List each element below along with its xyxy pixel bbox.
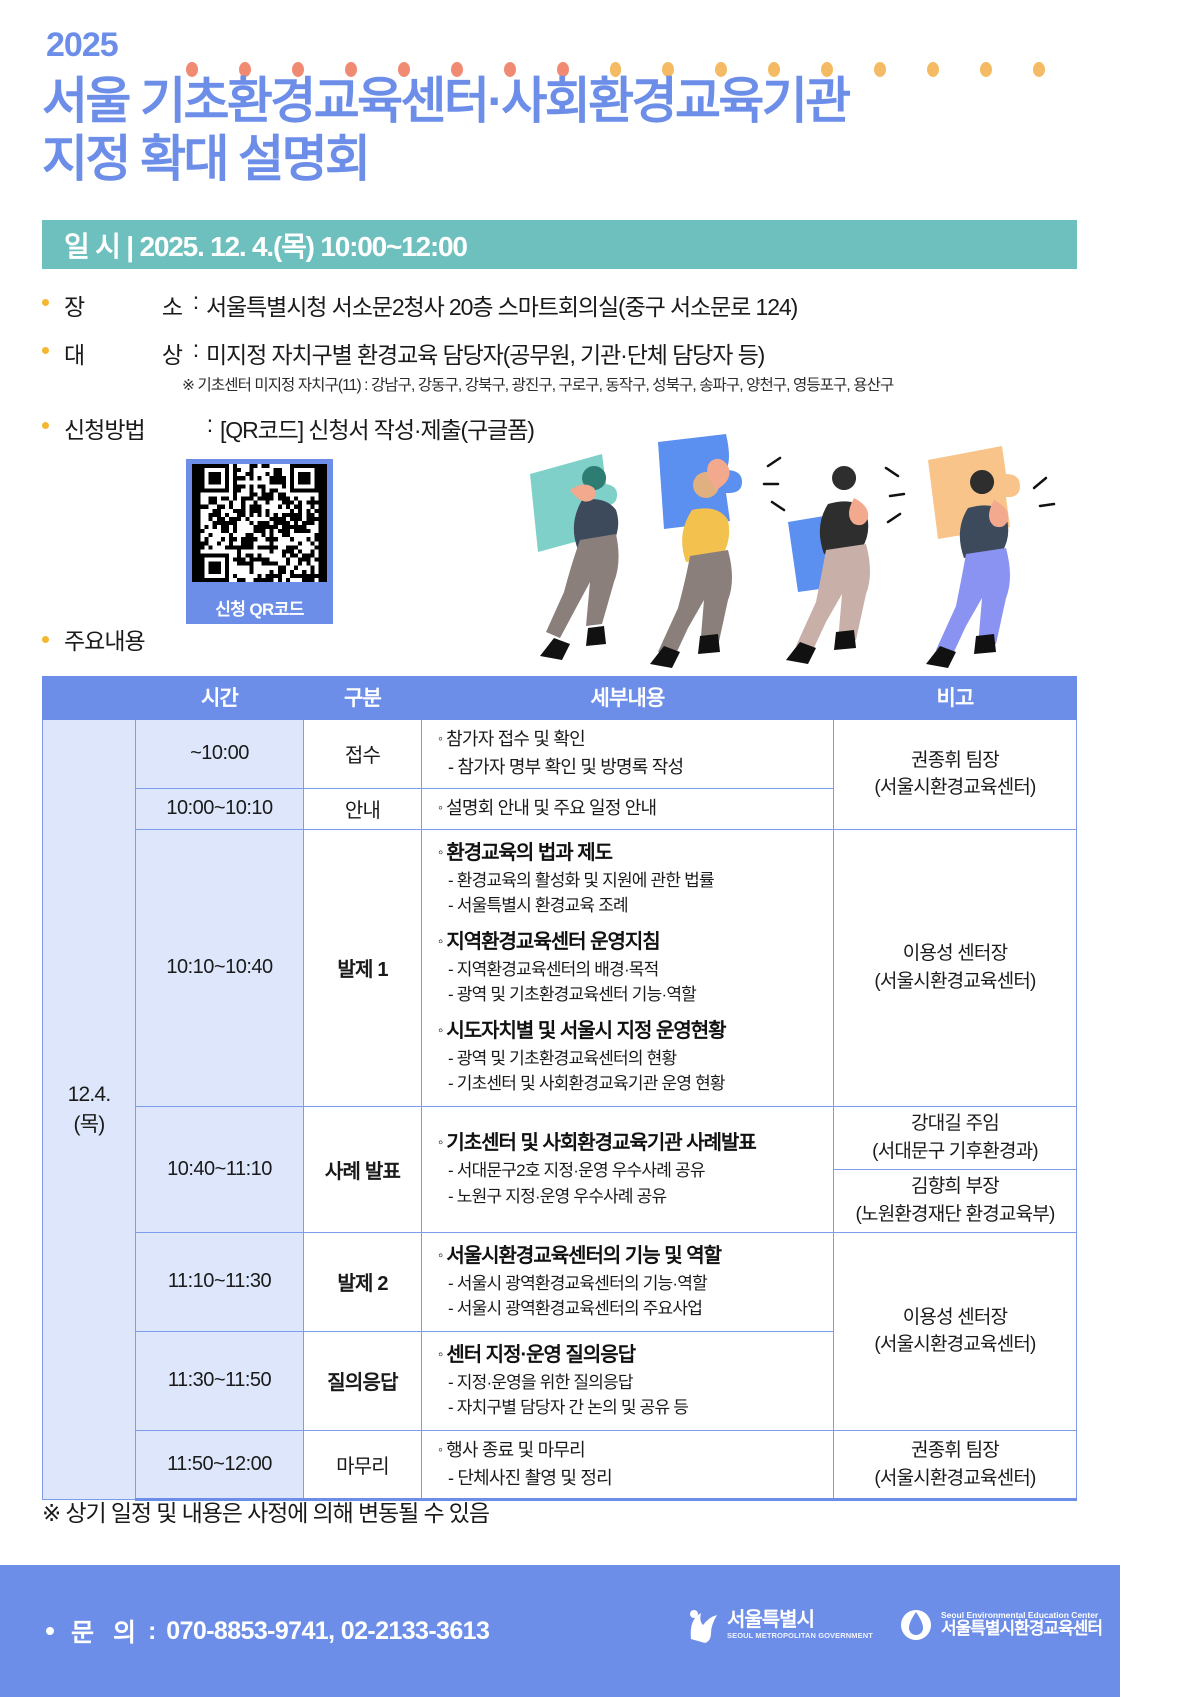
cell-kind: 질의응답: [304, 1331, 422, 1430]
target-value: 미지정 자치구별 환경교육 담당자(공무원, 기관·단체 담당자 등): [206, 336, 764, 370]
table-row: 11:10~11:30 발제 2 ◦서울시환경교육센터의 기능 및 역할 - 서…: [43, 1232, 1077, 1331]
detail-group: ◦시도자치별 및 서울시 지정 운영현황 - 광역 및 기초환경교육센터의 현황…: [438, 1017, 833, 1097]
note-line-1: 이용성 센터장: [835, 940, 1075, 968]
cell-note: 이용성 센터장 (서울시환경교육센터): [834, 829, 1077, 1106]
note-line-2: (서울시환경교육센터): [835, 968, 1075, 996]
info-row-target: 대 상 : 미지정 자치구별 환경교육 담당자(공무원, 기관·단체 담당자 등…: [42, 336, 1112, 370]
seoul-city-logo: 서울특별시 SEOUL METROPOLITAN GOVERNMENT: [685, 1605, 873, 1645]
poster-header: 2025 서울 기초환경교육센터·사회환경교육기관 지정 확대 설명회: [0, 0, 1120, 215]
cell-detail: ◦참가자 접수 및 확인 - 참가자 명부 확인 및 방명록 작성: [422, 719, 834, 789]
place-value: 서울특별시청 서소문2청사 20층 스마트회의실(중구 서소문로 124): [206, 288, 797, 322]
cell-time: 10:10~10:40: [136, 829, 304, 1106]
person-4: [926, 446, 1020, 668]
date-bar: 일 시 | 2025. 12. 4.(목) 10:00~12:00: [42, 220, 1077, 269]
cell-detail: ◦행사 종료 및 마무리 - 단체사진 촬영 및 정리: [422, 1430, 834, 1500]
contact-numbers: 070-8853-9741, 02-2133-3613: [166, 1617, 489, 1646]
footer-contact: 문 의 : 070-8853-9741, 02-2133-3613: [46, 1613, 489, 1649]
date-bar-text: 일 시 | 2025. 12. 4.(목) 10:00~12:00: [42, 225, 467, 265]
note-line-2: (노원환경재단 환경교육부): [835, 1201, 1075, 1229]
detail-group-head: ◦기초센터 및 사회환경교육기관 사례발표: [438, 1129, 833, 1158]
detail-sub: - 서울시 광역환경교육센터의 기능·역할: [438, 1271, 833, 1297]
table-row: 11:50~12:00 마무리 ◦행사 종료 및 마무리 - 단체사진 촬영 및…: [43, 1430, 1077, 1500]
qr-code-image[interactable]: [186, 459, 333, 595]
note-line-1: 이용성 센터장: [835, 1304, 1075, 1332]
cell-kind: 마무리: [304, 1430, 422, 1500]
detail-sub: - 환경교육의 활성화 및 지원에 관한 법률: [438, 868, 833, 894]
detail-group-head: ◦서울시환경교육센터의 기능 및 역할: [438, 1242, 833, 1271]
illustration-svg: [510, 432, 1110, 672]
info-row-target-wrap: 대 상 : 미지정 자치구별 환경교육 담당자(공무원, 기관·단체 담당자 등…: [42, 336, 1112, 395]
detail-sub: - 자치구별 담당자 간 논의 및 공유 등: [438, 1395, 833, 1421]
th-blank: [43, 677, 136, 719]
circle-bullet-icon: ◦: [438, 1346, 442, 1363]
apply-label: 신청방법: [64, 411, 200, 445]
detail-group-head: ◦환경교육의 법과 제도: [438, 839, 833, 868]
footer-logos: 서울특별시 SEOUL METROPOLITAN GOVERNMENT Seou…: [685, 1605, 1102, 1645]
table-row: 12.4. (목) ~10:00 접수 ◦참가자 접수 및 확인 - 참가자 명…: [43, 719, 1077, 789]
apply-colon: :: [200, 411, 220, 438]
detail-group: ◦센터 지정·운영 질의응답 - 지정·운영을 위한 질의응답 - 자치구별 담…: [438, 1341, 833, 1421]
footnote-text: ※ 상기 일정 및 내용은 사정에 의해 변동될 수 있음: [42, 1494, 489, 1528]
place-colon: :: [186, 288, 206, 315]
person-3: [786, 466, 870, 664]
table-header-row: 시간 구분 세부내용 비고: [43, 677, 1077, 719]
cell-time: 11:50~12:00: [136, 1430, 304, 1500]
qr-caption: 신청 QR코드: [186, 595, 333, 624]
cell-time: ~10:00: [136, 719, 304, 789]
date-cell-line2: (목): [44, 1110, 134, 1139]
cell-note: 김향희 부장 (노원환경재단 환경교육부): [834, 1169, 1077, 1232]
target-label: 대 상: [64, 336, 186, 370]
cell-note: 권종휘 팀장 (서울시환경교육센터): [834, 1430, 1077, 1500]
cell-detail: ◦센터 지정·운영 질의응답 - 지정·운영을 위한 질의응답 - 자치구별 담…: [422, 1331, 834, 1430]
seoul-city-text: 서울특별시 SEOUL METROPOLITAN GOVERNMENT: [727, 1610, 873, 1640]
person-1: [530, 454, 619, 660]
note-line-2: (서울시환경교육센터): [835, 1465, 1075, 1493]
seoul-mark-icon: [685, 1605, 719, 1645]
cell-detail: ◦서울시환경교육센터의 기능 및 역할 - 서울시 광역환경교육센터의 기능·역…: [422, 1232, 834, 1331]
note-line-2: (서대문구 기후환경과): [835, 1138, 1075, 1166]
bullet-dot-icon: [42, 411, 64, 429]
environment-mark-icon: [899, 1605, 933, 1645]
main-content-text: 주요내용: [64, 622, 145, 656]
note-line-1: 권종휘 팀장: [835, 1437, 1075, 1465]
detail-sub: - 서대문구2호 지정·운영 우수사례 공유: [438, 1158, 833, 1184]
title-line-1: 서울 기초환경교육센터·사회환경교육기관: [42, 73, 849, 129]
table-row: 10:40~11:10 사례 발표 ◦기초센터 및 사회환경교육기관 사례발표 …: [43, 1106, 1077, 1169]
th-time: 시간: [136, 677, 304, 719]
note-line-1: 권종휘 팀장: [835, 747, 1075, 775]
cell-note: 강대길 주임 (서대문구 기후환경과): [834, 1106, 1077, 1169]
detail-group: ◦지역환경교육센터 운영지침 - 지역환경교육센터의 배경·목적 - 광역 및 …: [438, 928, 833, 1008]
puzzle-people-illustration: [510, 432, 1110, 672]
table-head: 시간 구분 세부내용 비고: [43, 677, 1077, 719]
detail-group: ◦환경교육의 법과 제도 - 환경교육의 활성화 및 지원에 관한 법률 - 서…: [438, 839, 833, 919]
cell-detail: ◦기초센터 및 사회환경교육기관 사례발표 - 서대문구2호 지정·운영 우수사…: [422, 1106, 834, 1232]
year-label: 2025: [46, 26, 118, 65]
note-line-2: (서울시환경교육센터): [835, 774, 1075, 802]
program-schedule-table: 시간 구분 세부내용 비고 12.4. (목) ~10:00 접수 ◦참가자 접…: [42, 676, 1077, 1501]
person-2: [650, 434, 742, 668]
target-colon: :: [186, 336, 206, 363]
cell-kind: 사례 발표: [304, 1106, 422, 1232]
detail-sub: - 광역 및 기초환경교육센터의 현황: [438, 1046, 833, 1072]
cell-time: 10:00~10:10: [136, 788, 304, 829]
detail-group-head: ◦지역환경교육센터 운영지침: [438, 928, 833, 957]
cell-kind: 발제 2: [304, 1232, 422, 1331]
cell-note: 권종휘 팀장 (서울시환경교육센터): [834, 719, 1077, 830]
date-cell-line1: 12.4.: [44, 1080, 134, 1109]
target-note: ※ 기초센터 미지정 자치구(11) : 강남구, 강동구, 강북구, 광진구,…: [182, 373, 1112, 395]
bullet-dot-icon: [42, 336, 64, 354]
bullet-dot-icon: [46, 1627, 54, 1635]
cell-detail: ◦환경교육의 법과 제도 - 환경교육의 활성화 및 지원에 관한 법률 - 서…: [422, 829, 834, 1106]
detail-sub: - 서울시 광역환경교육센터의 주요사업: [438, 1296, 833, 1322]
cell-detail: ◦설명회 안내 및 주요 일정 안내: [422, 788, 834, 829]
cell-kind: 발제 1: [304, 829, 422, 1106]
detail-sub: - 지정·운영을 위한 질의응답: [438, 1370, 833, 1396]
note-line-1: 김향희 부장: [835, 1173, 1075, 1201]
qr-matrix-svg: [192, 464, 327, 582]
circle-bullet-icon: ◦: [438, 1441, 442, 1457]
circle-bullet-icon: ◦: [438, 1134, 442, 1151]
circle-bullet-icon: ◦: [438, 799, 442, 815]
cell-time: 11:10~11:30: [136, 1232, 304, 1331]
apply-value: [QR코드] 신청서 작성·제출(구글폼): [220, 411, 534, 445]
cell-kind: 안내: [304, 788, 422, 829]
circle-bullet-icon: ◦: [438, 933, 442, 950]
detail-simple: ◦행사 종료 및 마무리 - 단체사진 촬영 및 정리: [438, 1437, 833, 1493]
cell-time: 11:30~11:50: [136, 1331, 304, 1430]
bullet-dot-icon: [42, 636, 49, 643]
cell-note: 이용성 센터장 (서울시환경교육센터): [834, 1232, 1077, 1430]
cell-kind: 접수: [304, 719, 422, 789]
detail-group-head: ◦시도자치별 및 서울시 지정 운영현황: [438, 1017, 833, 1046]
table-row: 10:10~10:40 발제 1 ◦환경교육의 법과 제도 - 환경교육의 활성…: [43, 829, 1077, 1106]
qr-code-block[interactable]: 신청 QR코드: [186, 459, 333, 624]
title-line-2: 지정 확대 설명회: [42, 130, 1112, 188]
footer-bar: 문 의 : 070-8853-9741, 02-2133-3613 서울특별시 …: [0, 1565, 1120, 1697]
circle-bullet-icon: ◦: [438, 1247, 442, 1264]
place-label: 장 소: [64, 288, 186, 322]
th-detail: 세부내용: [422, 677, 834, 719]
info-row-place: 장 소 : 서울특별시청 서소문2청사 20층 스마트회의실(중구 서소문로 1…: [42, 288, 1112, 322]
cell-time: 10:40~11:10: [136, 1106, 304, 1232]
detail-group: ◦기초센터 및 사회환경교육기관 사례발표 - 서대문구2호 지정·운영 우수사…: [438, 1129, 833, 1209]
note-line-1: 강대길 주임: [835, 1110, 1075, 1138]
detail-group-head: ◦센터 지정·운영 질의응답: [438, 1341, 833, 1370]
detail-simple: ◦설명회 안내 및 주요 일정 안내: [438, 795, 833, 823]
th-note: 비고: [834, 677, 1077, 719]
environment-center-text: Seoul Environmental Education Center 서울특…: [941, 1611, 1102, 1639]
date-cell: 12.4. (목): [43, 719, 136, 1500]
main-content-label: 주요내용: [42, 622, 145, 656]
circle-bullet-icon: ◦: [438, 730, 442, 746]
environment-center-logo: Seoul Environmental Education Center 서울특…: [899, 1605, 1102, 1645]
detail-simple: ◦참가자 접수 및 확인 - 참가자 명부 확인 및 방명록 작성: [438, 726, 833, 782]
detail-sub: - 기초센터 및 사회환경교육기관 운영 현황: [438, 1071, 833, 1097]
table-body: 12.4. (목) ~10:00 접수 ◦참가자 접수 및 확인 - 참가자 명…: [43, 719, 1077, 1500]
contact-colon: :: [148, 1617, 156, 1646]
detail-sub: - 서울특별시 환경교육 조례: [438, 893, 833, 919]
qr-code-matrix: [192, 464, 327, 582]
bullet-dot-icon: [42, 288, 64, 306]
contact-label: 문 의: [71, 1613, 142, 1649]
poster-root: 2025 서울 기초환경교육센터·사회환경교육기관 지정 확대 설명회 일 시 …: [0, 0, 1120, 1697]
detail-group: ◦서울시환경교육센터의 기능 및 역할 - 서울시 광역환경교육센터의 기능·역…: [438, 1242, 833, 1322]
circle-bullet-icon: ◦: [438, 1022, 442, 1039]
detail-sub: - 광역 및 기초환경교육센터 기능·역할: [438, 982, 833, 1008]
page-title: 서울 기초환경교육센터·사회환경교육기관 지정 확대 설명회: [42, 72, 1112, 188]
note-line-2: (서울시환경교육센터): [835, 1331, 1075, 1359]
detail-sub: - 노원구 지정·운영 우수사례 공유: [438, 1184, 833, 1210]
th-kind: 구분: [304, 677, 422, 719]
circle-bullet-icon: ◦: [438, 844, 442, 861]
detail-sub: - 지역환경교육센터의 배경·목적: [438, 957, 833, 983]
